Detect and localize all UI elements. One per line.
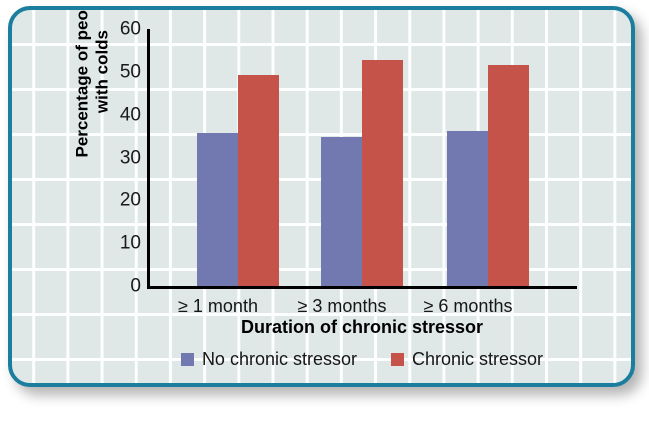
- x-axis-line: [147, 286, 577, 289]
- y-axis-line: [147, 29, 150, 289]
- legend-swatch-chronic-stressor: [391, 353, 404, 366]
- plot-area: 60 50 40 30 20 10 0 ≥ 1 month ≥ 3 months…: [147, 29, 577, 289]
- bar-chronic-stressor-1: [238, 75, 279, 286]
- legend-item-chronic-stressor: Chronic stressor: [391, 350, 543, 368]
- x-axis-title: Duration of chronic stressor: [147, 318, 577, 336]
- bar-chronic-stressor-3: [488, 65, 529, 286]
- legend-swatch-no-chronic-stressor: [181, 353, 194, 366]
- figure-panel: 60 50 40 30 20 10 0 ≥ 1 month ≥ 3 months…: [8, 6, 635, 387]
- chart-legend: No chronic stressor Chronic stressor: [147, 350, 577, 368]
- y-axis-title: Percentage of people with colds: [72, 6, 111, 182]
- bar-no-chronic-stressor-3: [447, 131, 488, 286]
- legend-item-no-chronic-stressor: No chronic stressor: [181, 350, 357, 368]
- y-tick-label-20: 20: [101, 191, 141, 210]
- category-label-3: ≥ 6 months: [388, 297, 548, 315]
- y-axis-title-line-1: Percentage of people: [72, 6, 92, 182]
- legend-label-no-chronic-stressor: No chronic stressor: [202, 350, 357, 368]
- bar-no-chronic-stressor-2: [321, 137, 362, 286]
- y-tick-label-0: 0: [101, 277, 141, 296]
- y-tick-label-10: 10: [101, 234, 141, 253]
- legend-label-chronic-stressor: Chronic stressor: [412, 350, 543, 368]
- bar-no-chronic-stressor-1: [197, 133, 238, 286]
- y-axis-title-line-2: with colds: [92, 6, 112, 182]
- bar-chronic-stressor-2: [362, 60, 403, 286]
